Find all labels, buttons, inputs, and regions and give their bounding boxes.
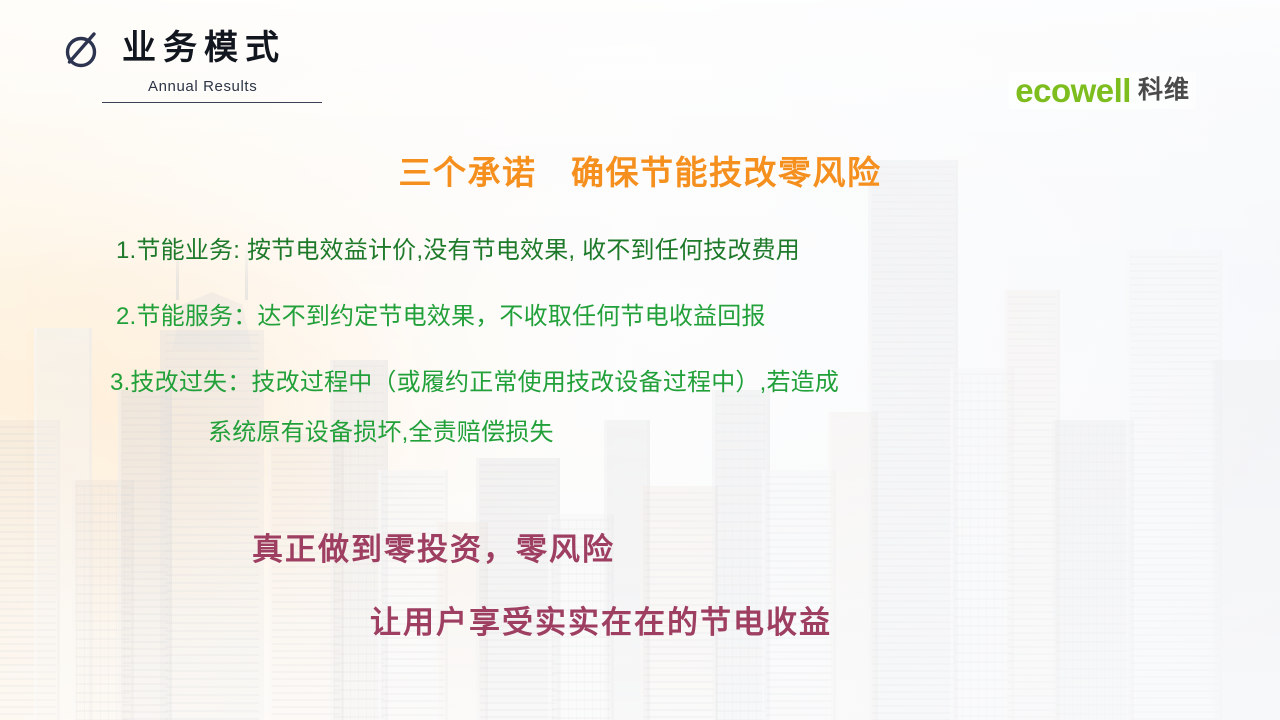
slashed-circle-icon: [62, 26, 104, 72]
promise-item-1: 1.节能业务: 按节电效益计价,没有节电效果, 收不到任何技改费用: [116, 236, 1280, 266]
closing-line-1: 真正做到零投资，零风险: [252, 524, 1280, 569]
headline: 三个承诺 确保节能技改零风险: [0, 146, 1280, 194]
page-title: 业务模式: [122, 31, 286, 67]
slide: 业务模式 Annual Results ecowell 科维 三个承诺 确保节能…: [0, 0, 1280, 720]
header-divider: [102, 102, 322, 103]
promise-item-3-continued: 系统原有设备损坏,全责赔偿损失: [208, 418, 1280, 448]
promise-list: 1.节能业务: 按节电效益计价,没有节电效果, 收不到任何技改费用 2.节能服务…: [0, 236, 1280, 448]
header-row: 业务模式: [62, 26, 482, 72]
slide-header: 业务模式 Annual Results: [62, 26, 482, 103]
promise-item-2: 2.节能服务：达不到约定节电效果，不收取任何节电收益回报: [116, 302, 1280, 332]
closing-line-2: 让用户享受实实在在的节电收益: [370, 597, 1280, 642]
logo-wordmark: ecowell: [1015, 74, 1131, 107]
closing-statements: 真正做到零投资，零风险 让用户享受实实在在的节电收益: [0, 524, 1280, 642]
logo-chinese-name: 科维: [1138, 78, 1190, 103]
header-subtitle: Annual Results: [62, 78, 482, 95]
promise-item-3: 3.技改过失：技改过程中（或履约正常使用技改设备过程中）,若造成: [110, 368, 1280, 398]
ecowell-logo: ecowell 科维: [1009, 72, 1196, 109]
